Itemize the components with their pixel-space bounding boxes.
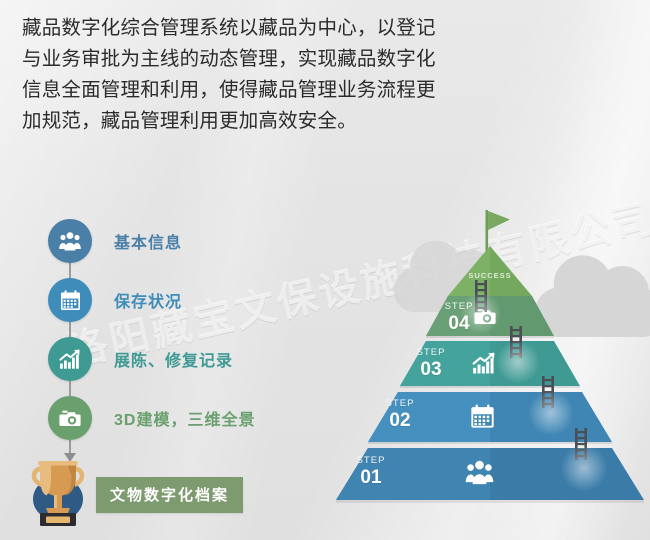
ladder-icon bbox=[573, 428, 589, 460]
step-number: 03 bbox=[412, 360, 450, 379]
trophy-icon bbox=[22, 452, 94, 532]
step-word: STEP bbox=[412, 348, 450, 358]
bar-chart-icon bbox=[48, 337, 92, 381]
step-word: STEP bbox=[381, 399, 419, 409]
rail-item-basic-info[interactable]: 基本信息 bbox=[20, 217, 182, 265]
apex-success-label: SUCCESS bbox=[467, 271, 513, 280]
rail-item-label: 展陈、修复记录 bbox=[114, 347, 233, 371]
ladder-icon bbox=[473, 280, 489, 312]
rail-item-label: 基本信息 bbox=[114, 229, 182, 253]
ladder-icon bbox=[508, 326, 524, 358]
rail-item-label: 3D建模，三维全景 bbox=[114, 406, 255, 430]
rail-item-label: 保存状况 bbox=[114, 288, 182, 312]
pyramid-step-02-text: STEP 02 bbox=[381, 399, 419, 430]
steps-rail: 基本信息 bbox=[20, 215, 310, 465]
step-number: 01 bbox=[352, 468, 390, 487]
slide-canvas: 藏品数字化综合管理系统以藏品为中心，以登记 与业务审批为主线的动态管理，实现藏品… bbox=[0, 0, 650, 540]
final-output-label: 文物数字化档案 bbox=[96, 477, 243, 513]
step-word: STEP bbox=[352, 456, 390, 466]
pyramid-diagram: SUCCESS STEP 04 STEP 03 bbox=[330, 200, 650, 540]
pyramid-step-03-text: STEP 03 bbox=[412, 348, 450, 379]
ladder-icon bbox=[540, 376, 556, 408]
step-number: 02 bbox=[381, 411, 419, 430]
rail-item-3d-modeling[interactable]: 3D建模，三维全景 bbox=[20, 394, 255, 442]
pyramid-step-01-text: STEP 01 bbox=[352, 456, 390, 487]
intro-paragraph: 藏品数字化综合管理系统以藏品为中心，以登记 与业务审批为主线的动态管理，实现藏品… bbox=[22, 12, 522, 136]
rail-item-preservation-status[interactable]: 保存状况 bbox=[20, 276, 182, 324]
bar-chart-icon bbox=[471, 352, 497, 375]
rail-item-exhibition-repair-record[interactable]: 展陈、修复记录 bbox=[20, 335, 233, 383]
people-icon bbox=[464, 458, 495, 486]
calendar-icon bbox=[469, 403, 496, 430]
calendar-icon bbox=[48, 278, 92, 322]
camera-icon bbox=[48, 396, 92, 440]
people-icon bbox=[48, 219, 92, 263]
